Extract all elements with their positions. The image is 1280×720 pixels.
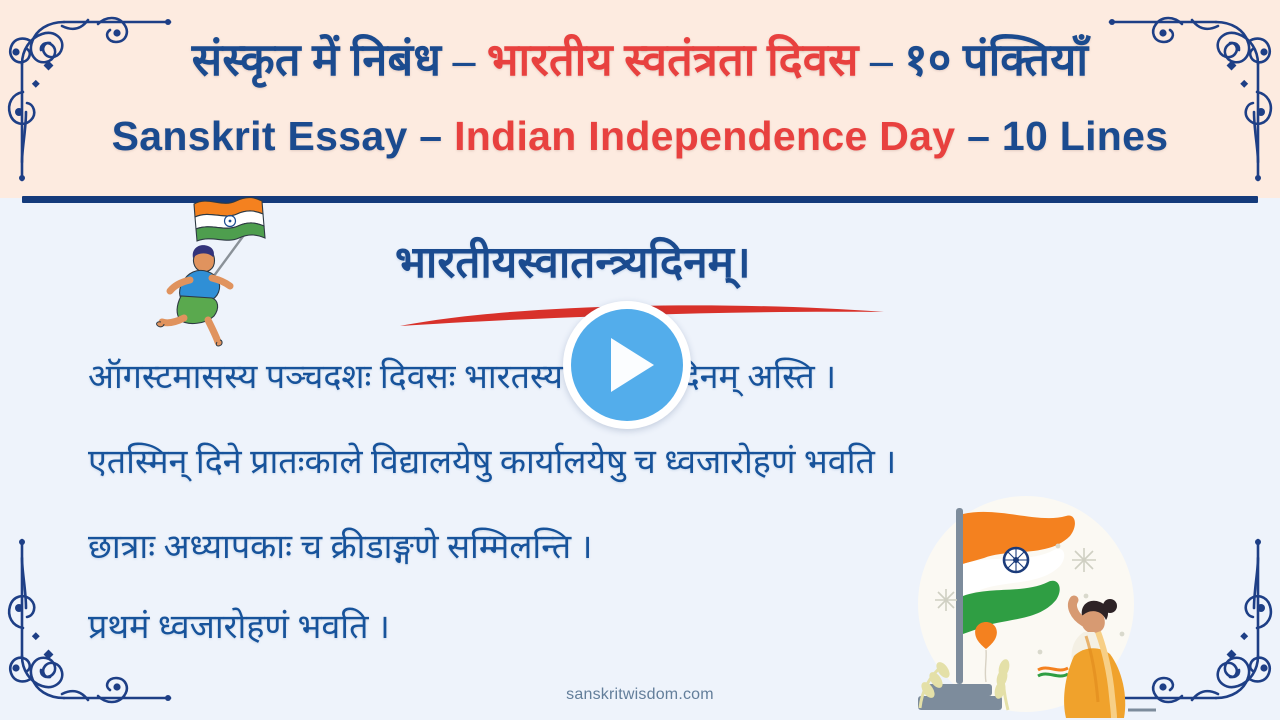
essay-line: ऑगस्टमासस्य पञ्चदशः दिवसः भारतस्य स्वातन… xyxy=(88,352,836,398)
title-hindi-part3: १० पंक्तियाँ xyxy=(904,35,1088,85)
title-english-part2: Indian Independence Day xyxy=(454,113,955,159)
child-running-with-flag-illustration xyxy=(150,188,280,348)
play-icon[interactable] xyxy=(571,309,683,421)
title-english-dash1: – xyxy=(408,113,455,159)
play-triangle-glyph xyxy=(611,338,654,392)
floral-flourish-corner-icon xyxy=(1108,2,1278,182)
essay-line: प्रथमं ध्वजारोहणं भवति । xyxy=(88,602,390,648)
title-hindi-part1: संस्कृत में निबंध xyxy=(192,35,442,85)
page-title-hindi: संस्कृत में निबंध – भारतीय स्वतंत्रता दि… xyxy=(0,28,1280,89)
page-title-english: Sanskrit Essay – Indian Independence Day… xyxy=(0,113,1280,160)
watermark-text: sanskritwisdom.com xyxy=(0,686,1280,704)
title-hindi-dash2: – xyxy=(859,35,905,85)
play-button[interactable] xyxy=(563,301,691,429)
floral-flourish-corner-icon xyxy=(2,2,172,182)
title-hindi-part2: भारतीय स्वतंत्रता दिवस xyxy=(487,35,859,85)
essay-line: एतस्मिन् दिने प्रातःकाले विद्यालयेषु कार… xyxy=(88,437,896,483)
essay-line: छात्राः अध्यापकाः च क्रीडाङ्गणे सम्मिलन्… xyxy=(88,522,592,568)
title-hindi-dash1: – xyxy=(441,35,487,85)
header-banner: संस्कृत में निबंध – भारतीय स्वतंत्रता दि… xyxy=(0,0,1280,198)
essay-heading: भारतीयस्वातन्त्र्यदिनम्। xyxy=(395,230,751,290)
poster-canvas: संस्कृत में निबंध – भारतीय स्वतंत्रता दि… xyxy=(0,0,1280,720)
title-english-dash2: – xyxy=(955,113,1002,159)
